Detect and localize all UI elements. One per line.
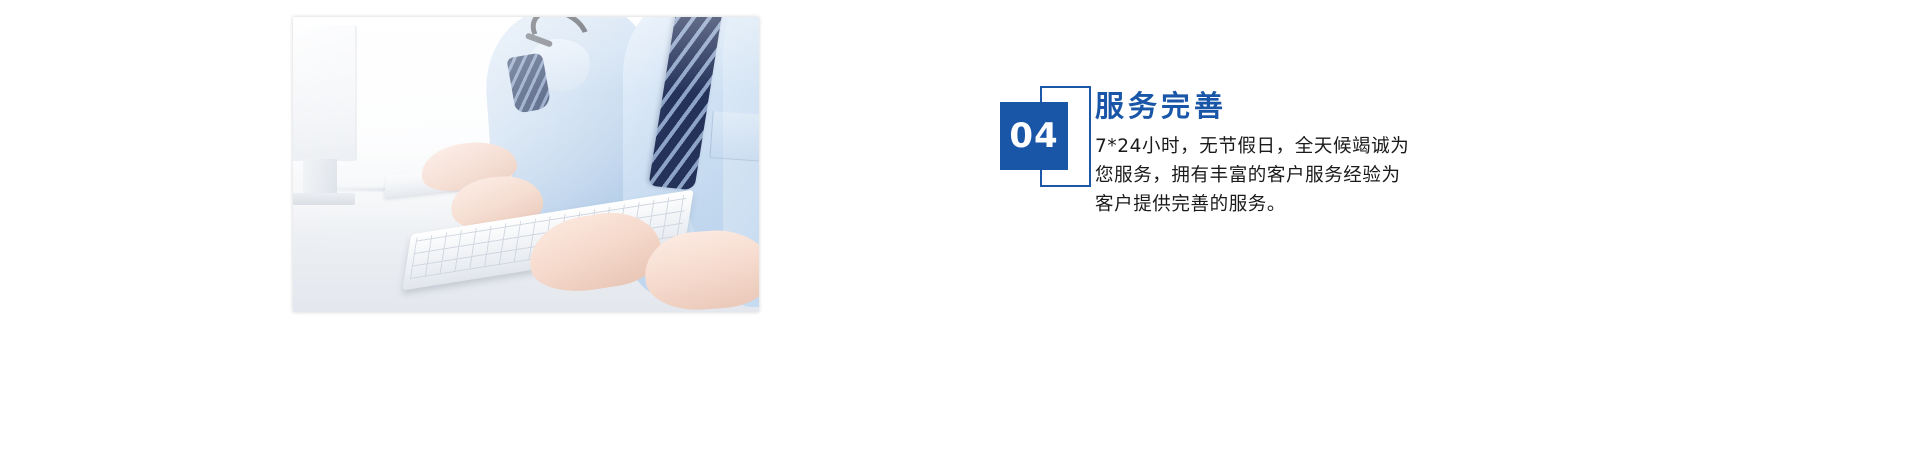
badge-number-label: 04 xyxy=(1000,102,1068,170)
description-line-3: 客户提供完善的服务。 xyxy=(1095,190,1495,219)
step-number-badge: 04 xyxy=(1000,86,1092,188)
feature-text-column: 服务完善 7*24小时，无节假日，全天候竭诚为 您服务，拥有丰富的客户服务经验为… xyxy=(1095,86,1615,219)
feature-content: 04 服务完善 7*24小时，无节假日，全天候竭诚为 您服务，拥有丰富的客户服务… xyxy=(1000,86,1620,256)
feature-photo-frame xyxy=(293,17,759,312)
description-line-2: 您服务，拥有丰富的客户服务经验为 xyxy=(1095,161,1495,190)
call-center-photo xyxy=(293,17,759,312)
monitor-stand-neck xyxy=(303,159,337,197)
service-feature-banner: 04 服务完善 7*24小时，无节假日，全天候竭诚为 您服务，拥有丰富的客户服务… xyxy=(0,0,1920,452)
monitor-screen xyxy=(293,25,357,161)
monitor-stand-base xyxy=(293,193,355,205)
shirt-pocket xyxy=(709,111,759,162)
description-line-1: 7*24小时，无节假日，全天候竭诚为 xyxy=(1095,132,1495,161)
feature-headline: 服务完善 xyxy=(1095,86,1615,126)
feature-description: 7*24小时，无节假日，全天候竭诚为 您服务，拥有丰富的客户服务经验为 客户提供… xyxy=(1095,132,1495,219)
